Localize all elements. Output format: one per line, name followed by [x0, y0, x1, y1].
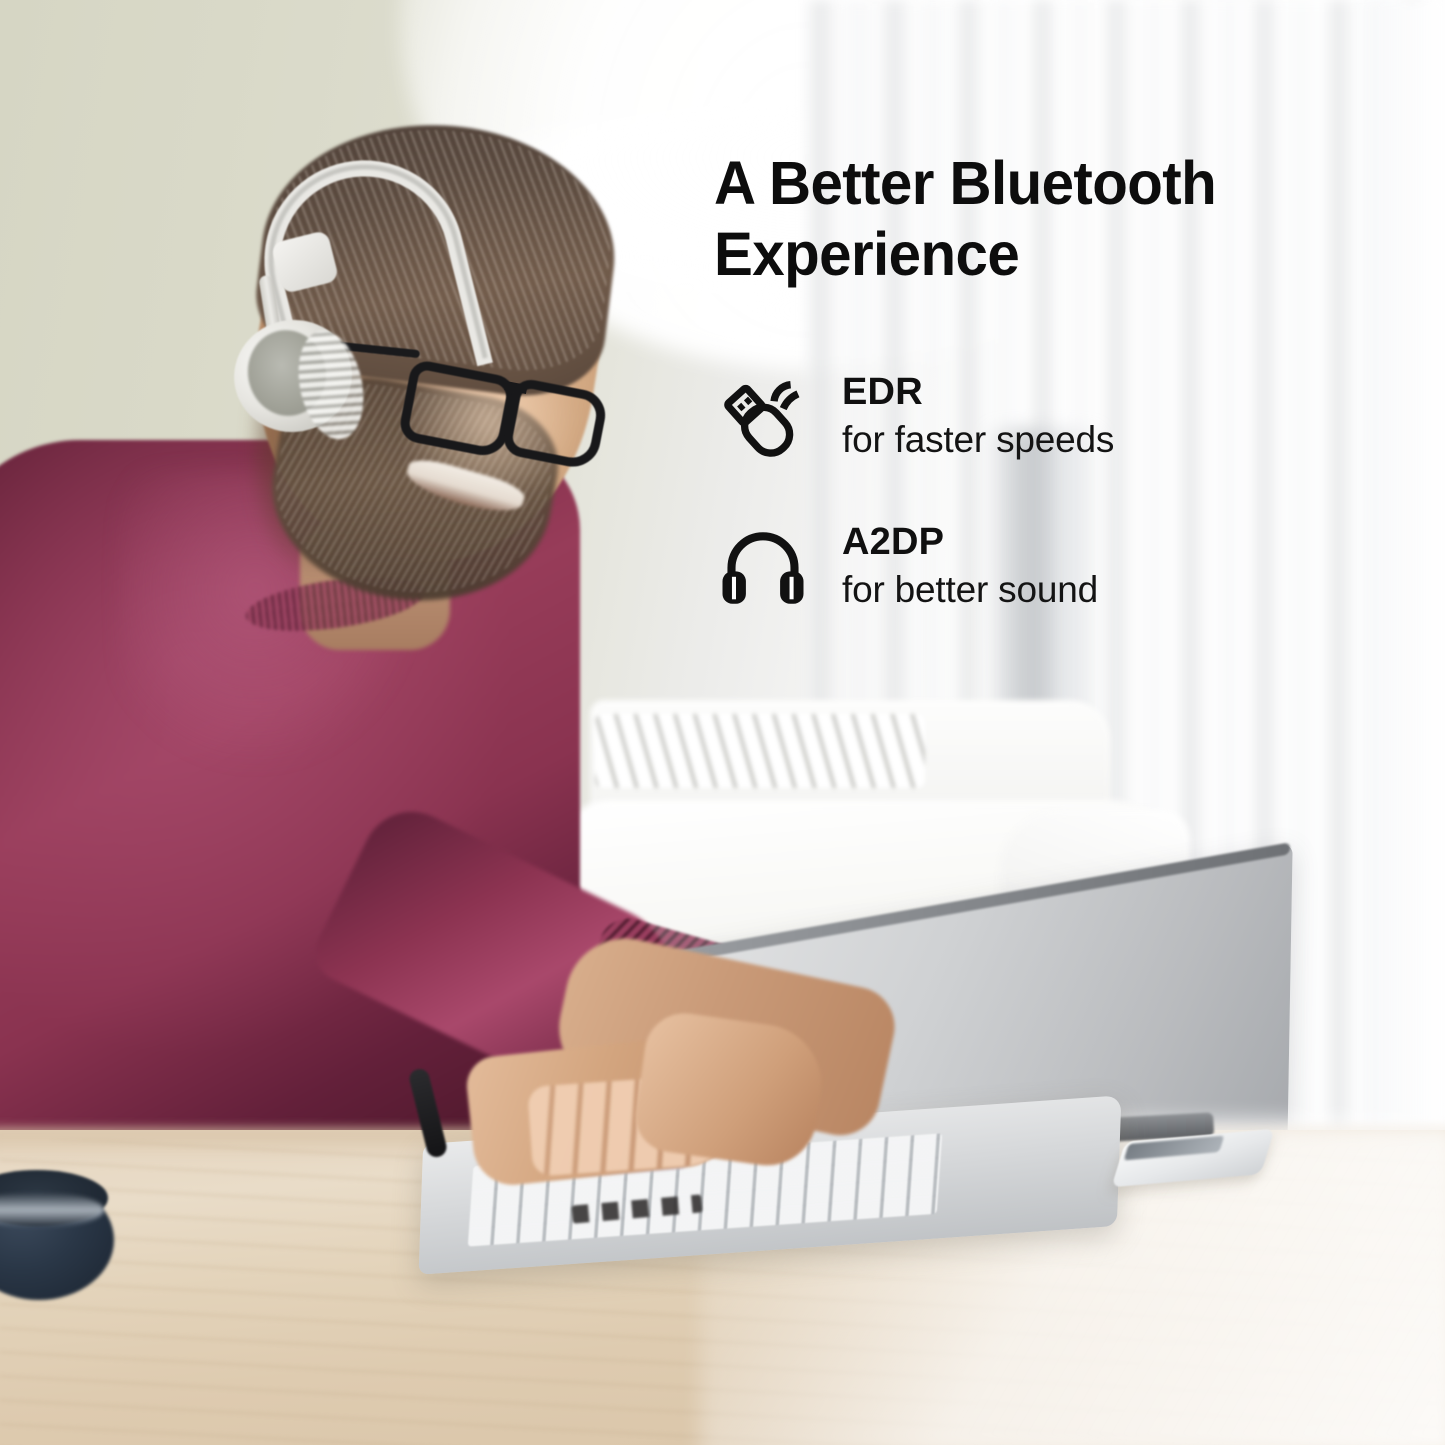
feature-subtitle: for better sound: [842, 568, 1098, 612]
feature-title: EDR: [842, 371, 1114, 414]
feature-item-a2dp: A2DP for better sound: [714, 517, 1374, 615]
feature-text-edr: EDR for faster speeds: [842, 369, 1114, 462]
page-title: A Better Bluetooth Experience: [714, 148, 1344, 291]
usb-dongle-wireless-icon: [714, 367, 812, 465]
feature-list: EDR for faster speeds: [714, 367, 1374, 615]
sofa-woven-detail: [595, 714, 925, 788]
marketing-copy: A Better Bluetooth Experience: [714, 148, 1374, 667]
feature-text-a2dp: A2DP for better sound: [842, 519, 1098, 612]
feature-subtitle: for faster speeds: [842, 418, 1114, 462]
feature-item-edr: EDR for faster speeds: [714, 367, 1374, 465]
feature-title: A2DP: [842, 521, 1098, 564]
product-marketing-image: A Better Bluetooth Experience: [0, 0, 1445, 1445]
headphones-icon: [714, 517, 812, 615]
